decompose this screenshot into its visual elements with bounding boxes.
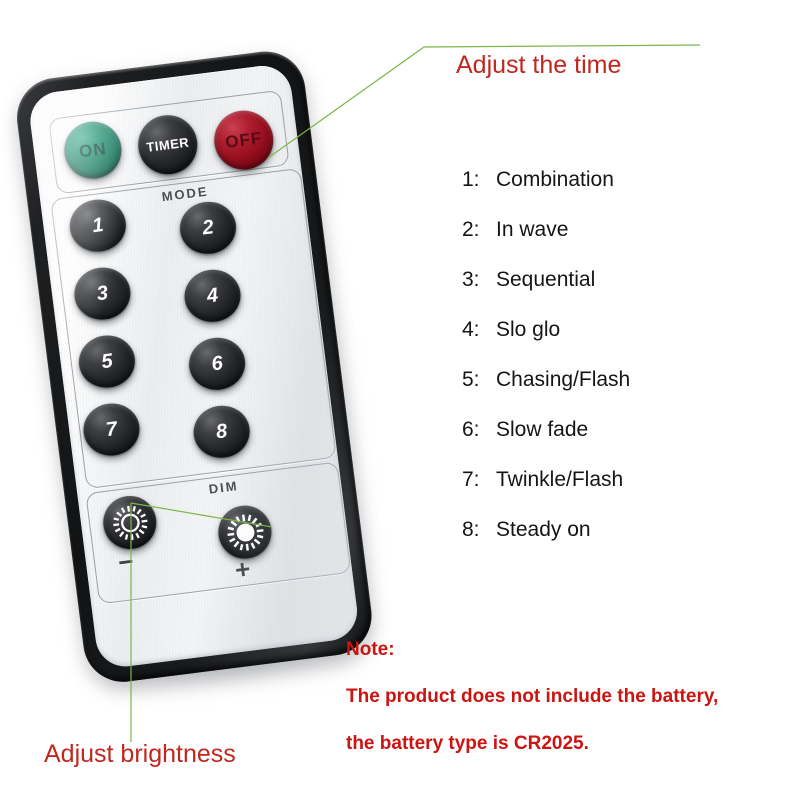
mode-legend-number: 5:: [462, 368, 496, 392]
mode-legend-label: Twinkle/Flash: [496, 468, 623, 492]
mode-legend-number: 6:: [462, 418, 496, 442]
mode-legend-item-4: 4: Slo glo: [462, 318, 792, 368]
mode-legend-label: In wave: [496, 218, 568, 242]
infographic-canvas: MODE DIM ON TIMER OFF 1 2 3 4 5 6 7 8: [0, 0, 800, 800]
mode-legend-label: Steady on: [496, 518, 591, 542]
mode-legend-item-3: 3: Sequential: [462, 268, 792, 318]
mode-legend-number: 8:: [462, 518, 496, 542]
sun-outline-icon: [109, 501, 151, 543]
mode-legend-item-8: 8: Steady on: [462, 518, 792, 568]
mode-legend-label: Sequential: [496, 268, 595, 292]
remote-faceplate: MODE DIM ON TIMER OFF 1 2 3 4 5 6 7 8: [27, 63, 360, 670]
mode-legend-item-2: 2: In wave: [462, 218, 792, 268]
note-heading: Note:: [346, 640, 786, 659]
callout-adjust-brightness: Adjust brightness: [44, 740, 236, 769]
mode-legend-number: 4:: [462, 318, 496, 342]
mode-legend-label: Slow fade: [496, 418, 588, 442]
note-line-1: The product does not include the battery…: [346, 687, 786, 706]
mode-legend-number: 1:: [462, 168, 496, 192]
note-line-2: the battery type is CR2025.: [346, 734, 786, 753]
mode-legend-label: Chasing/Flash: [496, 368, 630, 392]
callout-adjust-time: Adjust the time: [456, 51, 621, 80]
mode-legend-number: 7:: [462, 468, 496, 492]
mode-legend-item-1: 1: Combination: [462, 168, 792, 218]
mode-legend-label: Slo glo: [496, 318, 560, 342]
mode-legend-item-5: 5: Chasing/Flash: [462, 368, 792, 418]
mode-legend-number: 2:: [462, 218, 496, 242]
remote-control: MODE DIM ON TIMER OFF 1 2 3 4 5 6 7 8: [12, 46, 387, 699]
sun-filled-icon: [224, 511, 266, 553]
mode-legend-item-7: 7: Twinkle/Flash: [462, 468, 792, 518]
mode-legend-label: Combination: [496, 168, 614, 192]
mode-legend-item-6: 6: Slow fade: [462, 418, 792, 468]
mode-legend-list: 1: Combination 2: In wave 3: Sequential …: [462, 168, 792, 568]
note-block: Note: The product does not include the b…: [346, 640, 786, 753]
mode-legend-number: 3:: [462, 268, 496, 292]
